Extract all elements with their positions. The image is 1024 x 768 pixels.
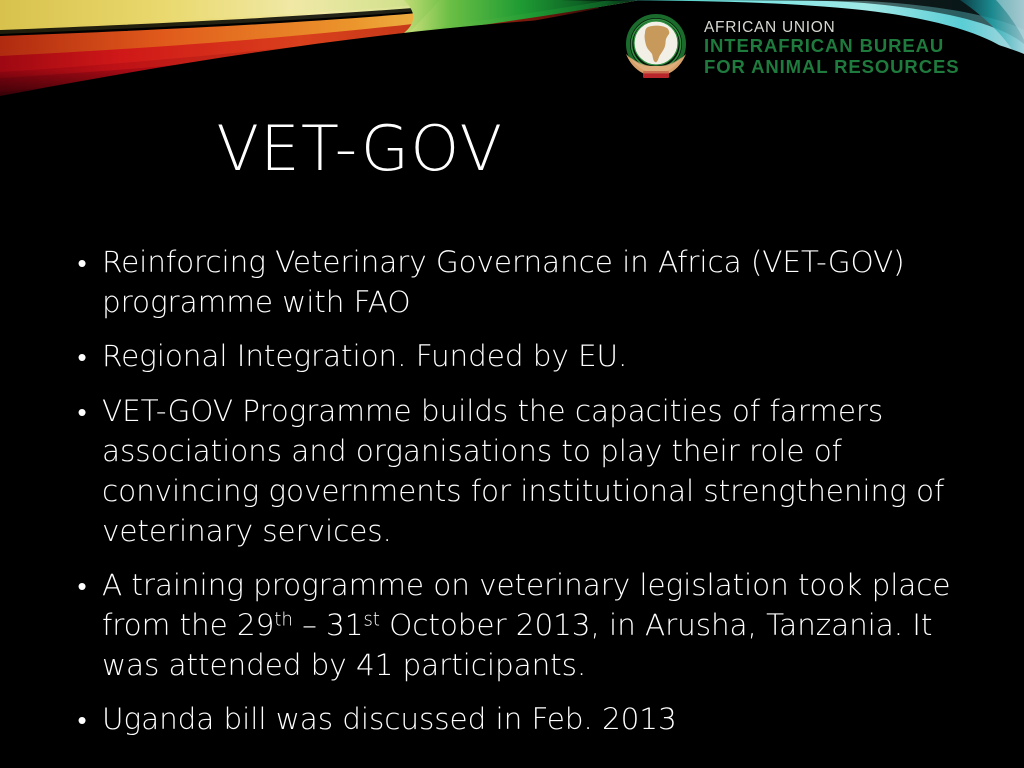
- logo-line-for-animal-resources: FOR ANIMAL RESOURCES: [704, 57, 959, 78]
- list-item: • Reinforcing Veterinary Governance in A…: [62, 242, 962, 322]
- list-item-text: Uganda bill was discussed in Feb. 2013: [102, 699, 962, 739]
- africa-continent-emblem-icon: [618, 10, 694, 86]
- bullet-marker-icon: •: [62, 565, 102, 606]
- logo-text-block: AFRICAN UNION INTERAFRICAN BUREAU FOR AN…: [704, 19, 959, 78]
- bullet-marker-icon: •: [62, 391, 102, 432]
- ordinal-suffix: st: [363, 610, 380, 631]
- ordinal-suffix: th: [274, 610, 293, 631]
- bullet-marker-icon: •: [62, 699, 102, 740]
- logo-line-interafrican-bureau: INTERAFRICAN BUREAU: [704, 36, 959, 57]
- list-item: • VET-GOV Programme builds the capacitie…: [62, 391, 962, 551]
- list-item: • A training programme on veterinary leg…: [62, 565, 962, 685]
- list-item-text: VET-GOV Programme builds the capacities …: [102, 391, 962, 551]
- list-item-text: Regional Integration. Funded by EU.: [102, 336, 962, 376]
- list-item-text: Reinforcing Veterinary Governance in Afr…: [102, 242, 962, 322]
- list-item-text: A training programme on veterinary legis…: [102, 565, 962, 685]
- title-row: VET-GOV: [0, 104, 1024, 200]
- page-title: VET-GOV: [150, 112, 570, 186]
- bullet-marker-icon: •: [62, 242, 102, 283]
- presentation-slide: VET-GOV: [0, 0, 1024, 768]
- list-item: • Uganda bill was discussed in Feb. 2013: [62, 699, 962, 740]
- bullet-list: • Reinforcing Veterinary Governance in A…: [62, 242, 962, 754]
- logo-line-african-union: AFRICAN UNION: [704, 19, 959, 36]
- bullet-marker-icon: •: [62, 336, 102, 377]
- list-item: • Regional Integration. Funded by EU.: [62, 336, 962, 377]
- au-ibar-logo: AFRICAN UNION INTERAFRICAN BUREAU FOR AN…: [618, 2, 948, 94]
